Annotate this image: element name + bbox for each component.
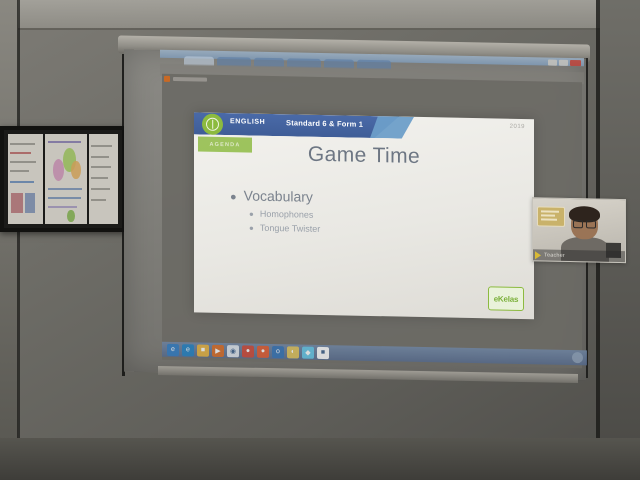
wall-upper-band (0, 0, 640, 30)
bookmark-favicon-icon (164, 76, 170, 82)
browser-ie-icon[interactable]: e (167, 343, 179, 355)
bookmark-label (173, 77, 207, 82)
bullet-dot-icon: ● (230, 192, 237, 203)
bullet-label: Vocabulary (244, 187, 313, 204)
wall-noticeboard (0, 126, 126, 232)
close-button[interactable] (570, 60, 581, 66)
window-controls[interactable] (548, 60, 581, 67)
video-app-icon[interactable]: ■ (317, 346, 329, 358)
maximize-button[interactable] (559, 60, 568, 66)
poster (45, 134, 87, 224)
participant-glasses (573, 220, 596, 226)
ceiling-trim-line (0, 28, 640, 30)
taskbar-spacer (332, 353, 569, 358)
paint-app-icon[interactable]: ◐ (287, 346, 299, 358)
presentation-slide: ENGLISH Standard 6 & Form 1 2019 AGENDA … (194, 112, 534, 319)
ekelas-logo-label: eKelas (494, 294, 519, 303)
slide-bullet-list: ● Vocabulary ● Homophones ● Tongue Twist… (230, 187, 320, 238)
bullet-item-sub: ● Tongue Twister (249, 223, 320, 234)
ekelas-brand-logo: eKelas (488, 286, 524, 311)
file-explorer-icon[interactable]: ■ (197, 344, 209, 356)
network-app-icon[interactable]: ◆ (302, 346, 314, 358)
poster (8, 134, 43, 224)
bullet-dot-icon: ● (249, 225, 254, 233)
webcam-name-bar: Teacher (533, 249, 626, 262)
browser-firefox-icon[interactable]: ● (257, 345, 269, 357)
app-circle-icon[interactable]: ◉ (227, 345, 239, 357)
slide-year-label: 2019 (510, 124, 525, 130)
bullet-item-primary: ● Vocabulary (230, 187, 320, 205)
bullet-dot-icon: ● (249, 211, 254, 219)
browser-edge-icon[interactable]: e (182, 344, 194, 356)
poster (89, 134, 118, 224)
slide-title: Game Time (194, 140, 534, 171)
webcam-participant-tile[interactable]: Teacher (532, 197, 626, 263)
browser-chrome-icon[interactable]: ● (242, 345, 254, 357)
minimize-button[interactable] (548, 60, 557, 66)
bullet-item-sub: ● Homophones (249, 209, 320, 220)
slide-level-label: Standard 6 & Form 1 (286, 118, 363, 129)
wall-lower-section (0, 438, 640, 480)
mic-icon (535, 251, 541, 259)
office-app-icon[interactable]: o (272, 345, 284, 357)
system-tray-icon[interactable] (572, 352, 583, 363)
bullet-label: Homophones (260, 209, 314, 220)
background-poster (537, 206, 565, 227)
projector-screen: ENGLISH Standard 6 & Form 1 2019 AGENDA … (118, 40, 590, 380)
projected-browser-window: ENGLISH Standard 6 & Form 1 2019 AGENDA … (160, 50, 584, 371)
wall-left-edge (17, 0, 20, 480)
media-player-icon[interactable]: ▶ (212, 344, 224, 356)
bullet-label: Tongue Twister (260, 223, 320, 234)
wall-left-panel (0, 0, 18, 480)
slide-subject-label: ENGLISH (230, 118, 265, 126)
ekelas-circle-logo-icon (202, 114, 223, 135)
participant-name-label: Teacher (544, 252, 565, 258)
bookmark-item[interactable] (164, 76, 207, 83)
